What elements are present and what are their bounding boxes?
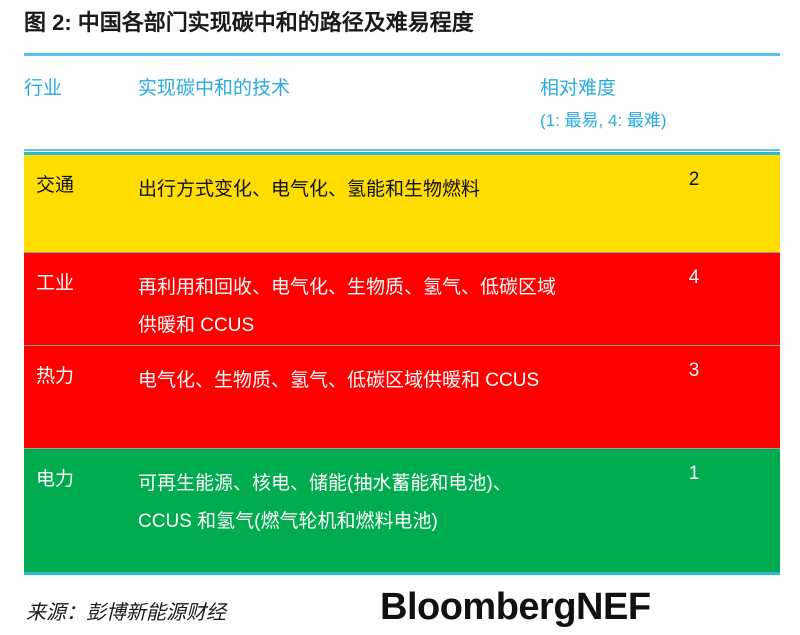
figure-footer: 来源：彭博新能源财经 BloombergNEF [0,578,800,635]
cell-difficulty: 4 [664,265,724,291]
table-column-headers: 行业 实现碳中和的技术 相对难度 (1: 最易, 4: 最难) [0,66,800,142]
cell-sector: 热力 [36,362,146,392]
cell-difficulty: 2 [664,167,724,193]
cell-technology: 再利用和回收、电气化、生物质、氢气、低碳区域供暖和 CCUS [138,269,558,345]
table-row: 工业 再利用和回收、电气化、生物质、氢气、低碳区域供暖和 CCUS 4 [24,252,780,345]
cell-technology: 电气化、生物质、氢气、低碳区域供暖和 CCUS [138,362,558,400]
cell-sector: 交通 [36,171,146,201]
figure-title: 图 2: 中国各部门实现碳中和的路径及难易程度 [24,8,776,38]
source-note: 来源：彭博新能源财经 [26,596,226,625]
figure-container: 图 2: 中国各部门实现碳中和的路径及难易程度 行业 实现碳中和的技术 相对难度… [0,0,800,635]
cell-technology: 可再生能源、核电、储能(抽水蓄能和电池)、CCUS 和氢气(燃气轮机和燃料电池) [138,465,558,541]
table-bottom-divider [24,572,780,575]
column-header-difficulty-note: (1: 最易, 4: 最难) [540,106,667,136]
column-header-technology: 实现碳中和的技术 [138,74,290,104]
title-divider [24,53,780,56]
cell-difficulty: 1 [664,461,724,487]
cell-sector: 工业 [36,269,146,299]
cell-sector: 电力 [36,465,146,495]
bloombergnef-logo: BloombergNEF [380,586,651,629]
table-body: 交通 出行方式变化、电气化、氢能和生物燃料 2 工业 再利用和回收、电气化、生物… [24,152,780,572]
table-row: 电力 可再生能源、核电、储能(抽水蓄能和电池)、CCUS 和氢气(燃气轮机和燃料… [24,448,780,572]
table-row: 交通 出行方式变化、电气化、氢能和生物燃料 2 [24,152,780,252]
cell-difficulty: 3 [664,358,724,384]
table-row: 热力 电气化、生物质、氢气、低碳区域供暖和 CCUS 3 [24,345,780,448]
column-header-sector: 行业 [24,74,62,104]
header-divider [24,149,780,151]
column-header-difficulty: 相对难度 [540,74,616,104]
cell-technology: 出行方式变化、电气化、氢能和生物燃料 [138,171,558,209]
